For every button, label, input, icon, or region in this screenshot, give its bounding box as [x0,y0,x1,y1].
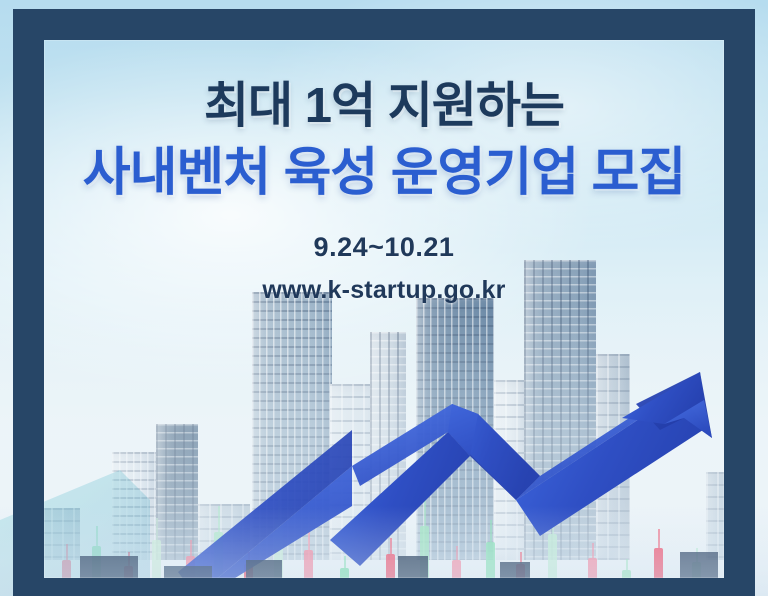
poster-canvas: 최대 1억 지원하는 사내벤처 육성 운영기업 모집 9.24~10.21 ww… [0,0,768,596]
headline-line-2: 사내벤처 육성 운영기업 모집 [0,147,768,199]
website-url[interactable]: www.k-startup.go.kr [0,276,768,305]
application-period: 9.24~10.21 [0,232,768,263]
headline-line-1: 최대 1억 지원하는 [0,82,768,131]
